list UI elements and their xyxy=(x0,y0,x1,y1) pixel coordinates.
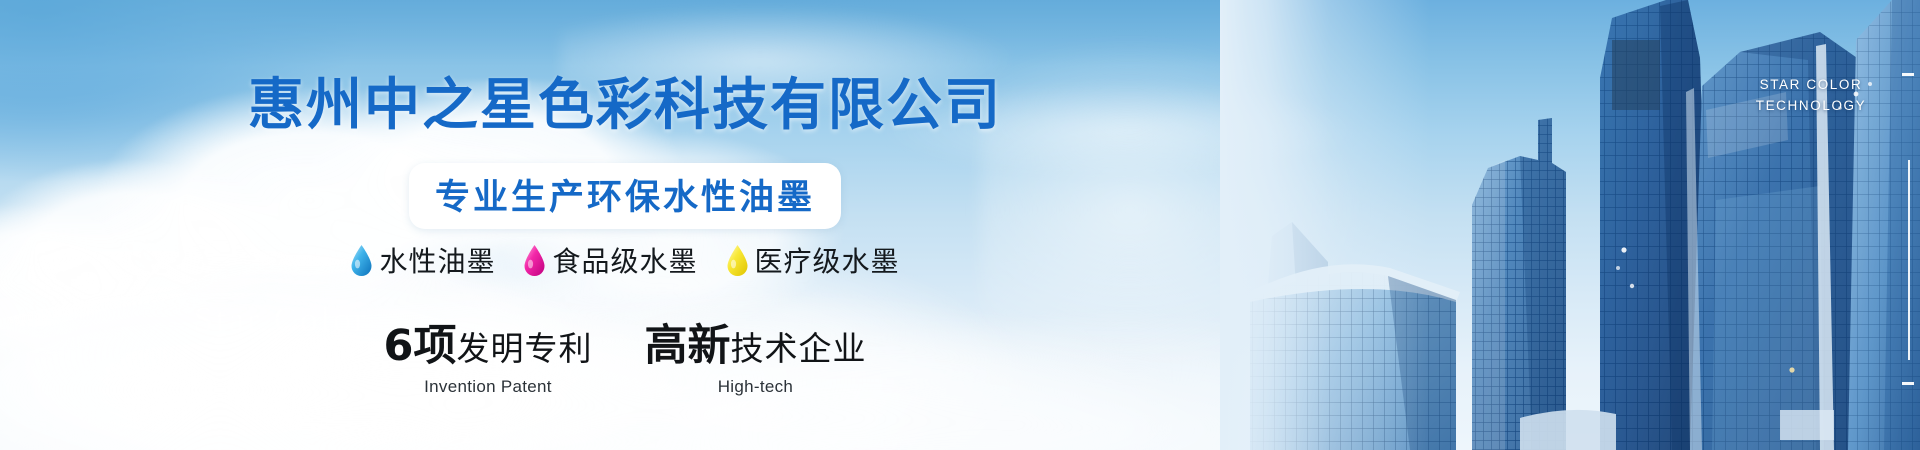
feature-list: 水性油墨 食品级水墨 xyxy=(0,240,1250,280)
badge-cn-1: 高新 技术企业 xyxy=(644,325,866,368)
tower-tick-top xyxy=(1902,73,1914,76)
feature-item-1: 食品级水墨 xyxy=(523,240,697,280)
feature-item-0: 水性油墨 xyxy=(350,240,495,280)
tower-brand-line2: TECHNOLOGY xyxy=(1726,96,1896,117)
subtitle-container: 专业生产环保水性油墨 xyxy=(0,163,1250,229)
feature-item-2: 医疗级水墨 xyxy=(726,240,900,280)
credential-badges: 6项 发明专利 Invention Patent 高新 技术企业 High-te… xyxy=(0,325,1250,397)
badge-rest-0: 发明专利 xyxy=(456,332,592,365)
badge-en-1: High-tech xyxy=(644,377,866,397)
water-drop-icon xyxy=(523,244,546,277)
tower-accent-line xyxy=(1908,160,1910,360)
skyscrapers-photo: STAR COLOR TECHNOLOGY xyxy=(1220,0,1920,450)
badge-strong-0: 6项 xyxy=(384,325,457,368)
badge-invention-patent: 6项 发明专利 Invention Patent xyxy=(384,325,593,397)
badge-cn-0: 6项 发明专利 xyxy=(384,325,593,368)
tower-tick-bottom xyxy=(1902,382,1914,385)
tower-brand-line1: STAR COLOR xyxy=(1726,75,1896,96)
badge-rest-1: 技术企业 xyxy=(730,332,866,365)
tower-brand-label: STAR COLOR TECHNOLOGY xyxy=(1726,75,1896,117)
feature-label-0: 水性油墨 xyxy=(379,240,495,280)
water-drop-icon xyxy=(350,244,373,277)
feature-label-1: 食品级水墨 xyxy=(552,240,697,280)
badge-strong-1: 高新 xyxy=(644,325,730,368)
banner-content: 惠州中之星色彩科技有限公司 专业生产环保水性油墨 水性油墨 xyxy=(0,0,1250,450)
badge-en-0: Invention Patent xyxy=(384,377,593,397)
promo-banner: Star Color xyxy=(0,0,1920,450)
company-title: 惠州中之星色彩科技有限公司 xyxy=(0,60,1250,141)
subtitle-pill: 专业生产环保水性油墨 xyxy=(409,163,841,229)
badge-high-tech: 高新 技术企业 High-tech xyxy=(644,325,866,397)
feature-label-2: 医疗级水墨 xyxy=(755,240,900,280)
water-drop-icon xyxy=(726,244,749,277)
